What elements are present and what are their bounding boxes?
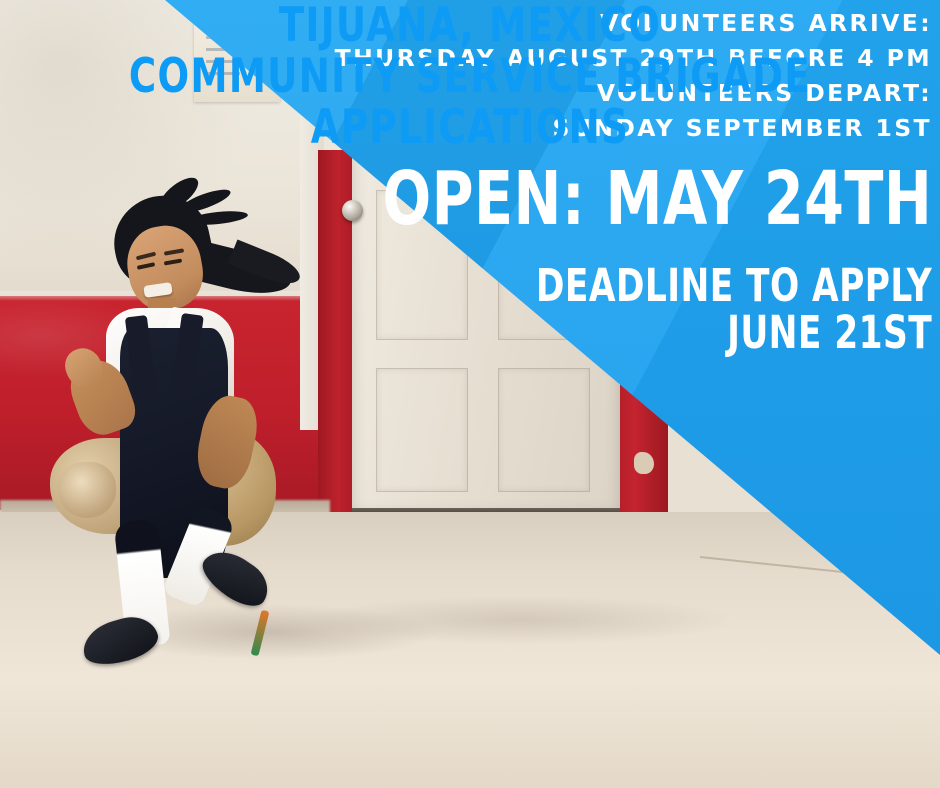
leash bbox=[251, 610, 270, 657]
program-name: COMMUNITY SERVICE BRIGADE bbox=[56, 51, 883, 102]
running-girl bbox=[60, 190, 290, 660]
program-applications: APPLICATIONS bbox=[56, 102, 883, 153]
program-title-block: TIJUANA, MEXICO COMMUNITY SERVICE BRIGAD… bbox=[56, 0, 883, 153]
deadline-date: JUNE 21ST bbox=[536, 309, 932, 356]
door-knob bbox=[342, 200, 363, 221]
open-date-headline: OPEN: MAY 24TH bbox=[382, 158, 932, 240]
deadline-label: DEADLINE TO APPLY bbox=[536, 262, 932, 309]
deadline-block: DEADLINE TO APPLY JUNE 21ST bbox=[536, 262, 932, 356]
promotional-flyer: VOLUNTEERS ARRIVE: THURSDAY AUGUST 29TH … bbox=[0, 0, 940, 788]
program-location: TIJUANA, MEXICO bbox=[56, 0, 883, 51]
